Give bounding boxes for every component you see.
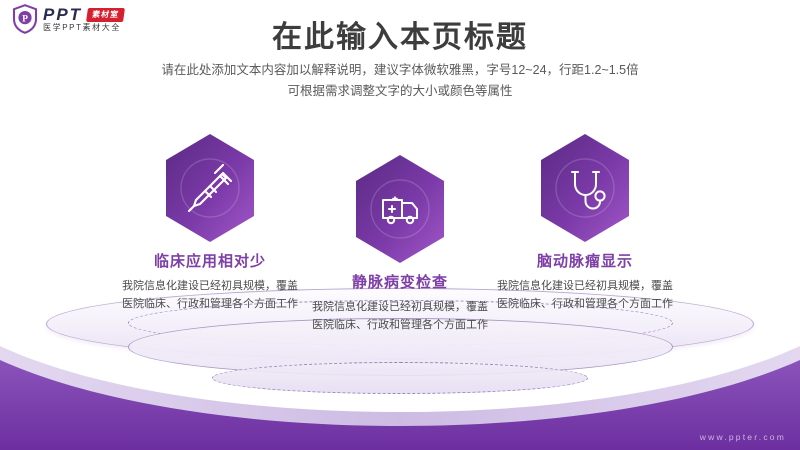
feature-column-3[interactable]: 脑动脉瘤显示 我院信息化建设已经初具规模，覆盖医院临床、行政和管理各个方面工作 — [470, 132, 700, 313]
hexagon-badge-3[interactable] — [535, 132, 635, 244]
footer-watermark: www.ppter.com — [700, 432, 786, 442]
stage-disc-inner — [212, 362, 588, 394]
feature-body-3: 我院信息化建设已经初具规模，覆盖医院临床、行政和管理各个方面工作 — [470, 277, 700, 313]
feature-heading-3: 脑动脉瘤显示 — [470, 250, 700, 271]
page-title: 在此输入本页标题 — [0, 12, 800, 56]
hexagon-badge-1[interactable] — [160, 132, 260, 244]
page-subtitle: 请在此处添加文本内容加以解释说明，建议字体微软雅黑，字号12~24，行距1.2~… — [0, 60, 800, 103]
subtitle-line-2: 可根据需求调整文字的大小或颜色等属性 — [0, 81, 800, 102]
subtitle-line-1: 请在此处添加文本内容加以解释说明，建议字体微软雅黑，字号12~24，行距1.2~… — [0, 60, 800, 81]
hexagon-badge-2[interactable] — [350, 153, 450, 265]
slide-canvas: P PPT 素材室 医学PPT素材大全 在此输入本页标题 请在此处添加文本内容加… — [0, 0, 800, 450]
